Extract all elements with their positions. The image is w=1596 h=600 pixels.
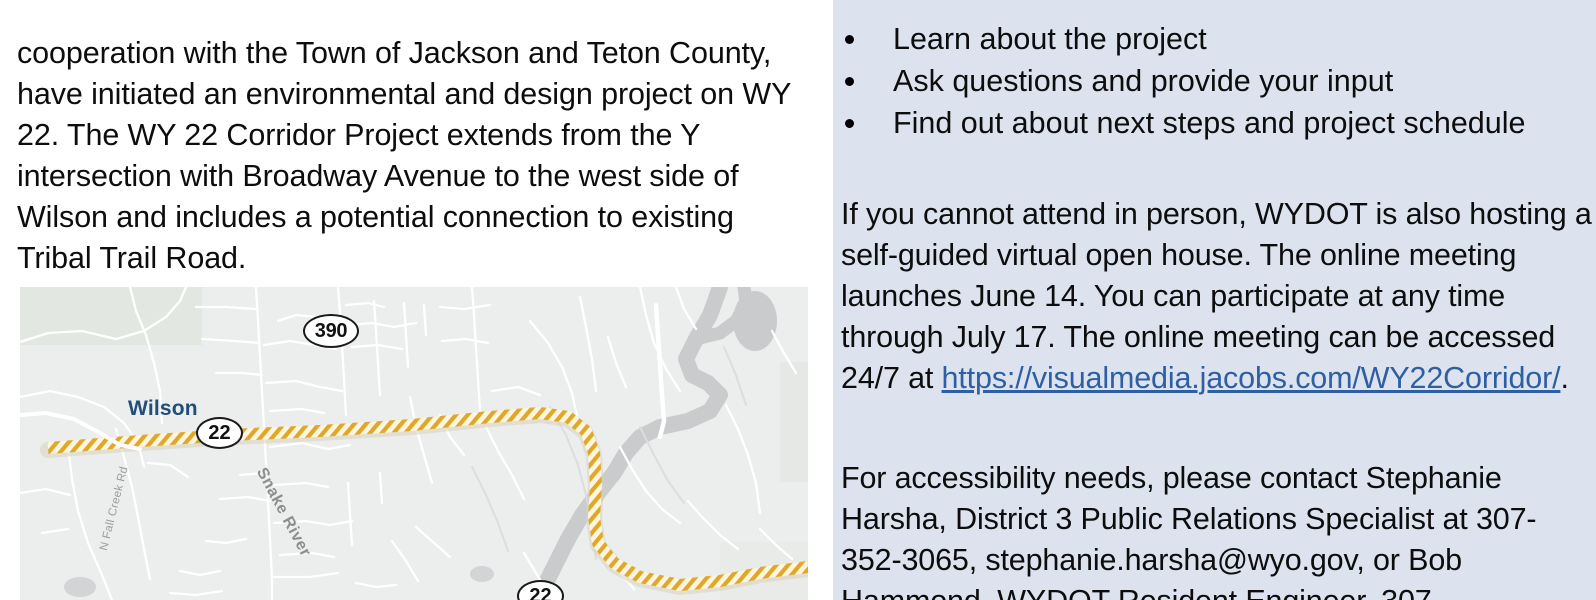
map-graphics <box>20 287 808 600</box>
list-item: Learn about the project <box>841 18 1591 60</box>
map-canvas: Wilson Snake River N Fall Creek Rd <box>20 287 808 600</box>
list-item-label: Find out about next steps and project sc… <box>893 106 1525 140</box>
flyer-page: cooperation with the Town of Jackson and… <box>0 0 1596 600</box>
virtual-paragraph-period: . <box>1560 361 1568 395</box>
open-house-benefits-list: Learn about the project Ask questions an… <box>841 18 1591 144</box>
left-column: cooperation with the Town of Jackson and… <box>0 0 833 600</box>
bullet-dot-icon <box>845 119 854 128</box>
list-item-label: Learn about the project <box>893 22 1207 56</box>
bullet-dot-icon <box>845 77 854 86</box>
virtual-open-house-link[interactable]: https://visualmedia.jacobs.com/WY22Corri… <box>942 361 1561 395</box>
virtual-open-house-paragraph: If you cannot attend in person, WYDOT is… <box>841 194 1593 399</box>
project-description-paragraph: cooperation with the Town of Jackson and… <box>17 33 812 279</box>
bullet-dot-icon <box>845 35 854 44</box>
vicinity-map[interactable]: Wilson Snake River N Fall Creek Rd 390 2… <box>20 287 808 600</box>
list-item-label: Ask questions and provide your input <box>893 64 1393 98</box>
accessibility-contact-paragraph: For accessibility needs, please contact … <box>841 458 1593 600</box>
route-shield-390: 390 <box>303 314 359 348</box>
right-info-panel: Learn about the project Ask questions an… <box>833 0 1596 600</box>
list-item: Ask questions and provide your input <box>841 60 1591 102</box>
route-shield-22: 22 <box>196 417 243 449</box>
list-item: Find out about next steps and project sc… <box>841 102 1591 144</box>
